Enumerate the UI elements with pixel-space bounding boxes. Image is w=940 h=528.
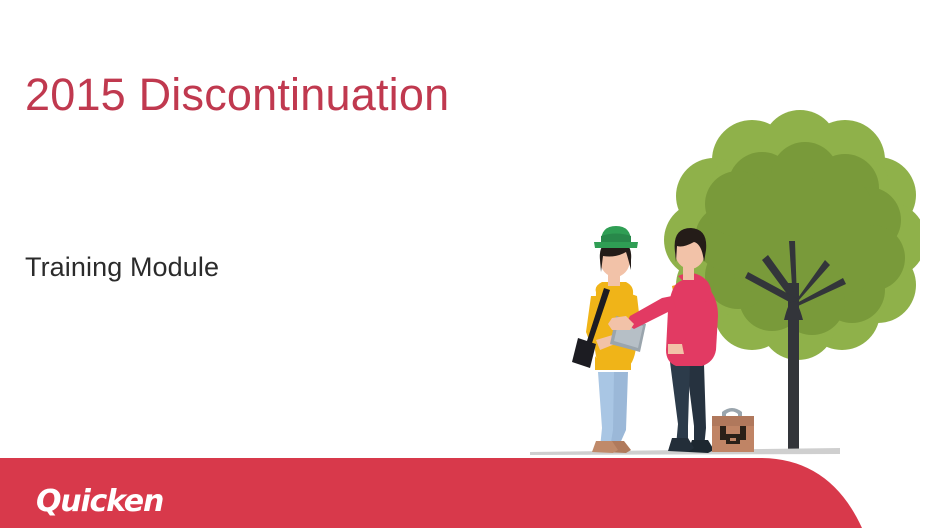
- hero-illustration: [500, 100, 920, 470]
- briefcase-icon: [712, 408, 754, 452]
- woman-with-tablet-figure: [572, 226, 646, 453]
- presentation-slide: 2015 Discontinuation Training Module: [0, 0, 940, 528]
- quicken-logo: Quicken: [36, 487, 163, 517]
- page-title: 2015 Discontinuation: [25, 70, 449, 120]
- page-subtitle: Training Module: [25, 253, 219, 283]
- bucket-hat-icon: [594, 226, 638, 248]
